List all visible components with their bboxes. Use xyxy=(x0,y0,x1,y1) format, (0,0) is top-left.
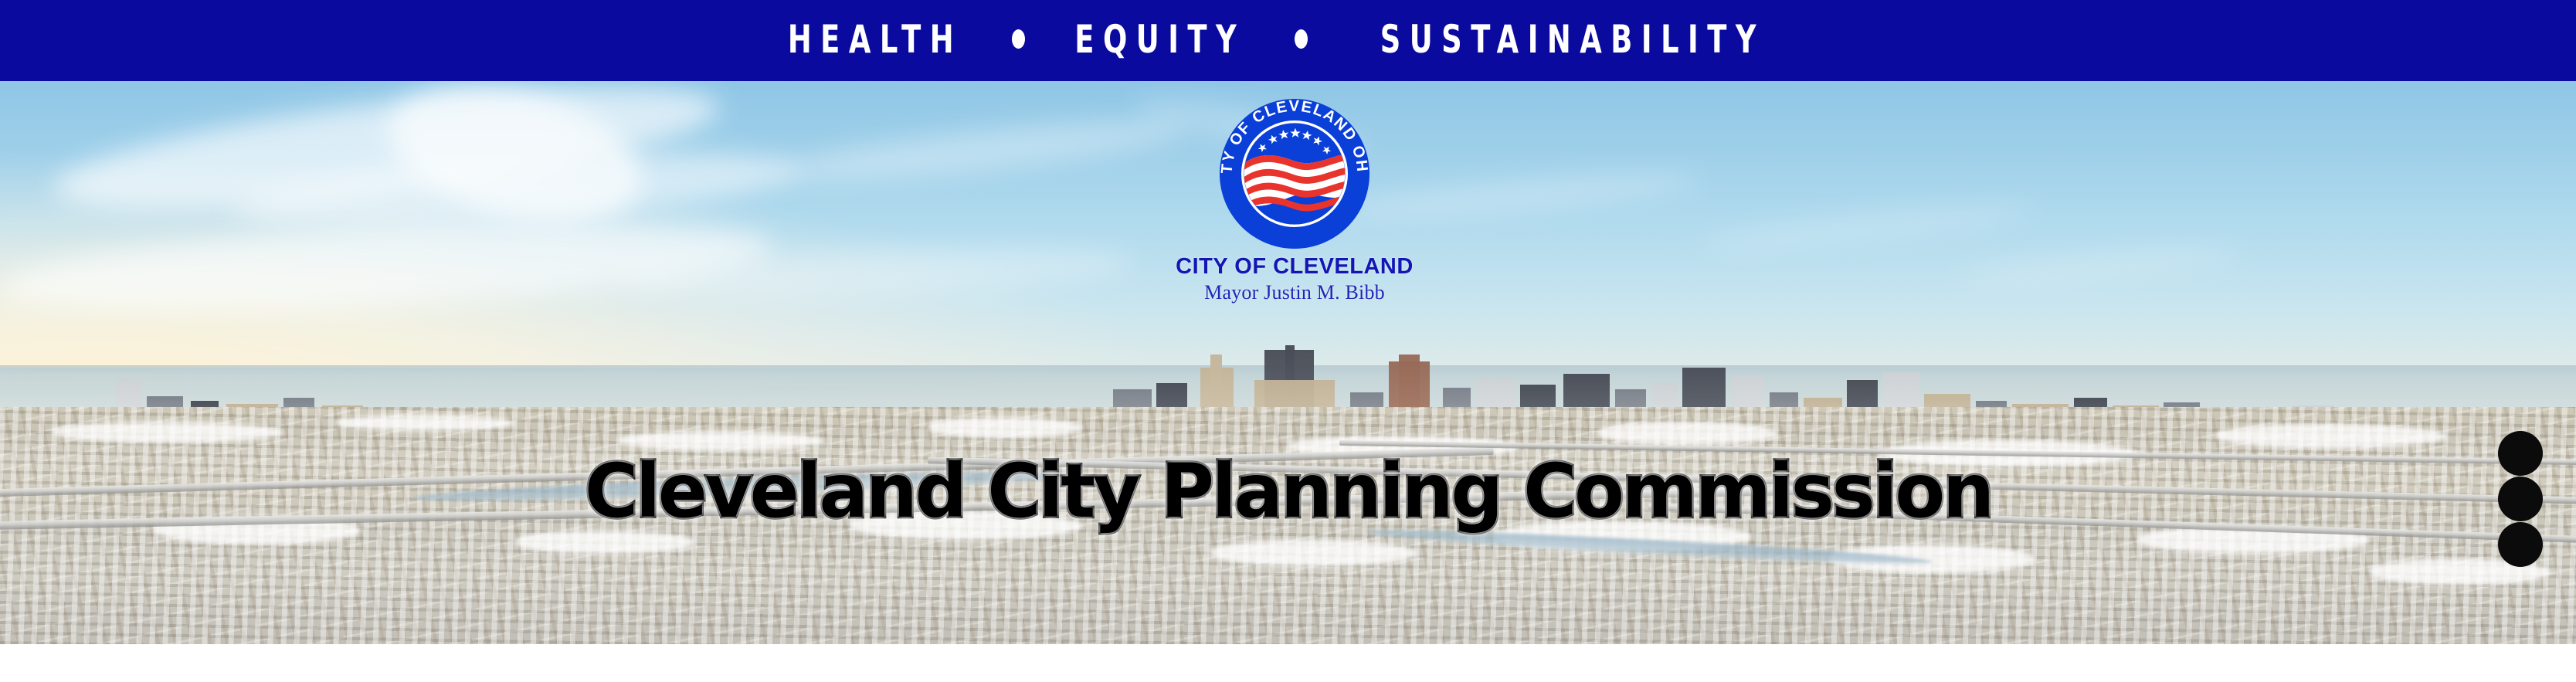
city-branding-block: CITY OF CLEVELAND OHIO xyxy=(1117,97,1472,304)
page-root: HEALTH EQUITY SUSTAINABILITY xyxy=(0,0,2576,682)
bullet-dot-icon xyxy=(1295,29,1308,49)
social-links-rail xyxy=(2497,431,2544,567)
bullet-dot-icon xyxy=(1012,29,1025,49)
tagline-inner: HEALTH EQUITY SUSTAINABILITY xyxy=(769,20,1807,59)
tagline-word-equity: EQUITY xyxy=(1074,20,1245,59)
mayor-name-caption: Mayor Justin M. Bibb xyxy=(1117,282,1472,303)
city-name-caption: CITY OF CLEVELAND xyxy=(1117,255,1472,278)
instagram-icon[interactable] xyxy=(2498,477,2543,521)
city-of-cleveland-seal-icon: CITY OF CLEVELAND OHIO xyxy=(1218,97,1371,250)
facebook-icon[interactable] xyxy=(2498,522,2543,567)
tagline-separator-2 xyxy=(1264,29,1338,49)
snowy-urban-foreground xyxy=(0,407,2576,644)
tagline-word-health: HEALTH xyxy=(788,20,962,59)
youtube-icon[interactable] xyxy=(2498,431,2543,476)
tagline-word-sustainability: SUSTAINABILITY xyxy=(1380,20,1765,59)
tagline-bar: HEALTH EQUITY SUSTAINABILITY xyxy=(0,0,2576,81)
tagline-separator-1 xyxy=(982,29,1056,49)
